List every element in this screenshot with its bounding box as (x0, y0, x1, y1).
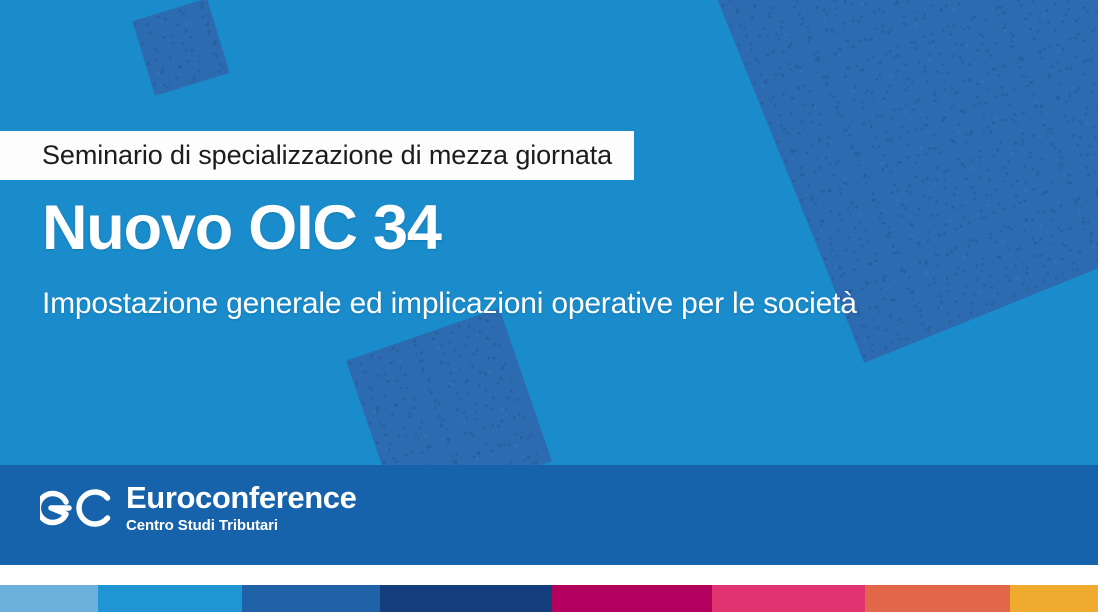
color-stripe-pink (712, 585, 865, 612)
footer-white-gap (0, 565, 1098, 585)
ec-monogram-icon (40, 485, 114, 531)
color-stripe-navy (380, 585, 552, 612)
kicker-text: Seminario di specializzazione di mezza g… (42, 142, 612, 169)
logo-name: Euroconference (126, 482, 356, 513)
color-stripe-azure (98, 585, 242, 612)
color-stripe-light-blue (0, 585, 98, 612)
page-subtitle: Impostazione generale ed implicazioni op… (42, 287, 857, 320)
color-stripe-medium-blue (242, 585, 380, 612)
seminar-banner: Seminario di specializzazione di mezza g… (0, 0, 1098, 612)
logo-tagline: Centro Studi Tributari (126, 518, 356, 533)
page-title: Nuovo OIC 34 (42, 196, 441, 260)
logo-wordmark: Euroconference Centro Studi Tributari (126, 482, 356, 533)
color-stripe-magenta (552, 585, 712, 612)
color-stripe-orange (865, 585, 1010, 612)
kicker-band: Seminario di specializzazione di mezza g… (0, 131, 634, 180)
color-stripe-yellow (1010, 585, 1098, 612)
brand-logo[interactable]: Euroconference Centro Studi Tributari (40, 482, 356, 533)
color-stripe (0, 585, 1098, 612)
